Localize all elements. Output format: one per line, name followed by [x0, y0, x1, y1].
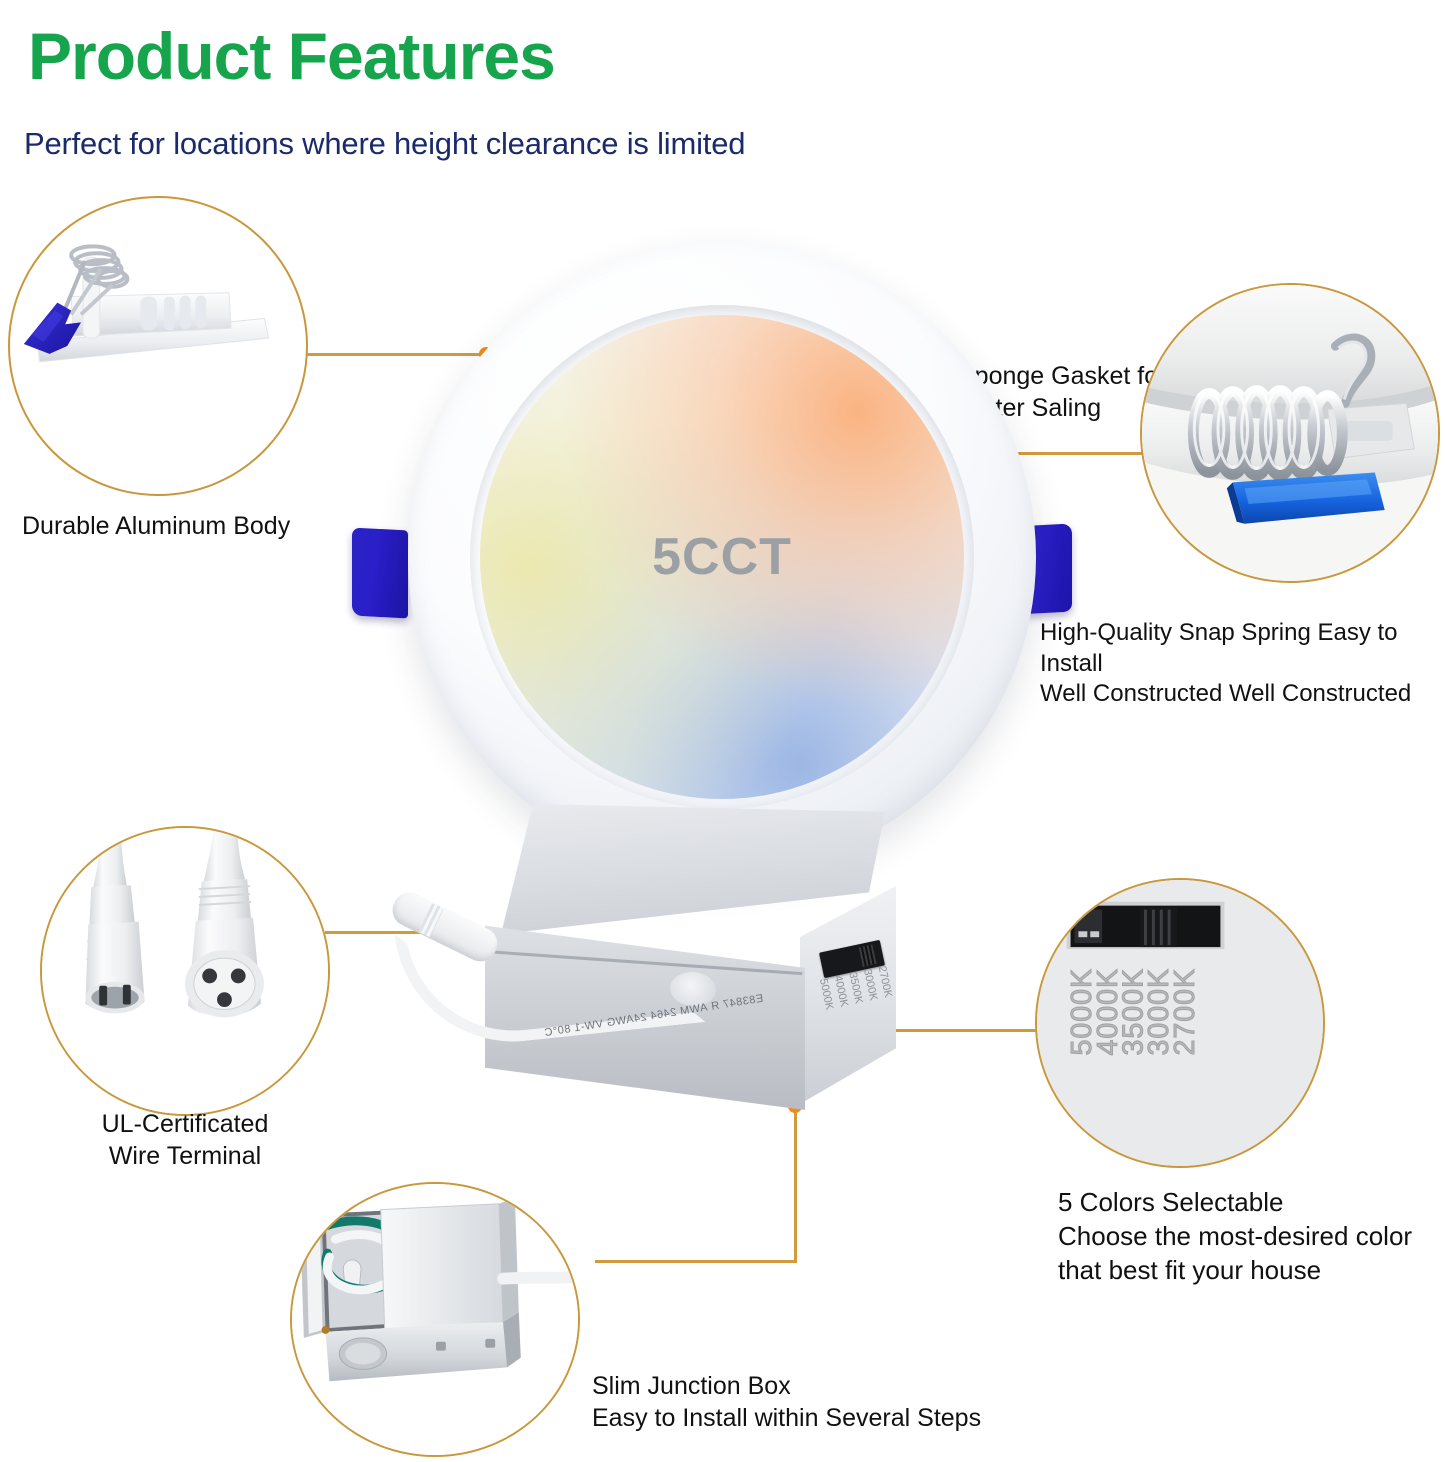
- page-subtitle: Perfect for locations where height clear…: [24, 126, 745, 162]
- caption-five-colors-selectable: 5 Colors Selectable Choose the most-desi…: [1058, 1186, 1412, 1287]
- callout-circle-snap-spring: [1140, 283, 1440, 583]
- caption-snap-spring: High-Quality Snap Spring Easy to Install…: [1040, 618, 1445, 710]
- open-junction-box-icon: [292, 1184, 578, 1455]
- snap-clip-left: [352, 528, 408, 619]
- callout-circle-ul-wire-terminal: [40, 826, 330, 1116]
- cct-switch-closeup-icon: 5000K 4000K 3500K 3000K 2700K: [1037, 880, 1323, 1166]
- page-title: Product Features: [28, 22, 555, 91]
- main-product-downlight: 5CCT: [398, 243, 1048, 883]
- svg-text:2700K: 2700K: [1169, 968, 1201, 1056]
- snap-spring-closeup-icon: [1142, 285, 1438, 581]
- caption-durable-aluminum-body: Durable Aluminum Body: [22, 510, 290, 542]
- lens-label-5cct: 5CCT: [480, 527, 964, 587]
- product-lens: 5CCT: [480, 315, 964, 799]
- callout-circle-durable-aluminum-body: [8, 196, 308, 496]
- fixture-side-profile-icon: [10, 198, 306, 494]
- product-junction-box: 5000K 4000K 3500K 3000K 2700K E83847 Я A…: [455, 800, 925, 1140]
- caption-ul-wire-terminal: UL-Certificated Wire Terminal: [40, 1108, 330, 1172]
- caption-slim-junction-box: Slim Junction Box Easy to Install within…: [592, 1370, 981, 1434]
- wire-connectors-icon: [42, 828, 328, 1114]
- callout-circle-five-colors-selectable: 5000K 4000K 3500K 3000K 2700K: [1035, 878, 1325, 1168]
- product-bezel: 5CCT: [408, 243, 1036, 871]
- leader-line-junction-box-horizontal: [595, 1260, 797, 1263]
- product-features-infographic: Product Features Perfect for locations w…: [0, 0, 1445, 1462]
- callout-circle-slim-junction-box: [290, 1182, 580, 1457]
